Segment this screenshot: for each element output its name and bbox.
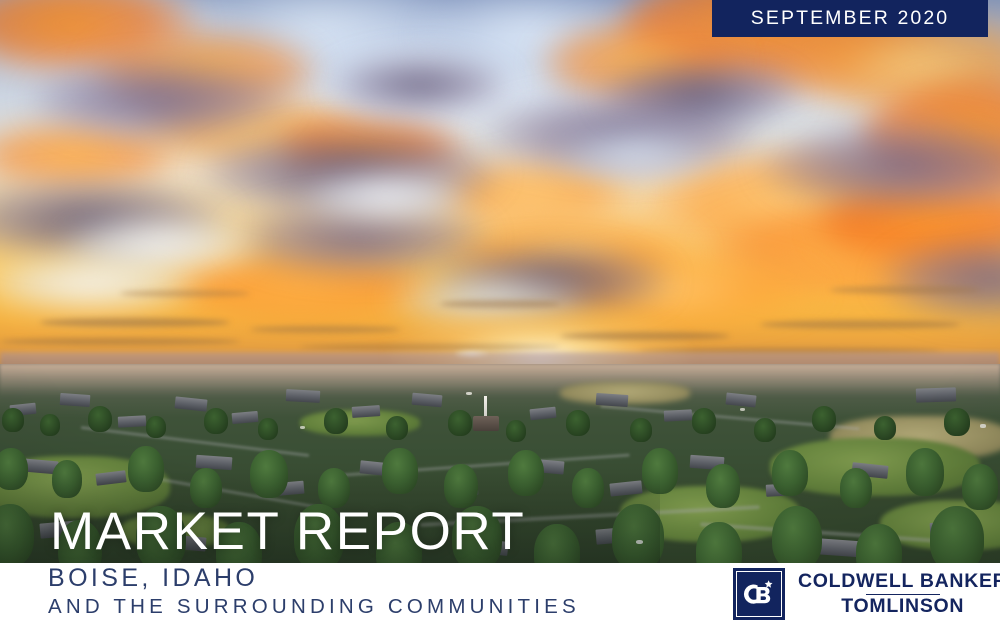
coldwell-banker-cb-star-icon	[733, 568, 785, 620]
page-title: MARKET REPORT	[50, 505, 525, 558]
brand-name-primary: COLDWELL BANKER	[798, 571, 1000, 592]
report-date-label: SEPTEMBER 2020	[751, 9, 949, 29]
subtitle-surrounding-communities: AND THE SURROUNDING COMMUNITIES	[48, 595, 580, 619]
subtitle-location: BOISE, IDAHO	[48, 564, 580, 592]
brand-wordmark: COLDWELL BANKER TOMLINSON	[798, 571, 1000, 617]
report-date-banner: SEPTEMBER 2020	[712, 0, 988, 37]
church-steeple	[484, 396, 487, 418]
footer-bar: BOISE, IDAHO AND THE SURROUNDING COMMUNI…	[0, 563, 1000, 640]
subtitle-block: BOISE, IDAHO AND THE SURROUNDING COMMUNI…	[48, 564, 580, 619]
coldwell-banker-tomlinson-logo[interactable]: COLDWELL BANKER TOMLINSON	[733, 568, 1000, 620]
hero-sunset-photo: MARKET REPORT	[0, 0, 1000, 563]
cloud-layer	[0, 0, 1000, 330]
market-report-cover-page: MARKET REPORT SEPTEMBER 2020 BOISE, IDAH…	[0, 0, 1000, 640]
brand-name-secondary: TOMLINSON	[841, 596, 964, 617]
